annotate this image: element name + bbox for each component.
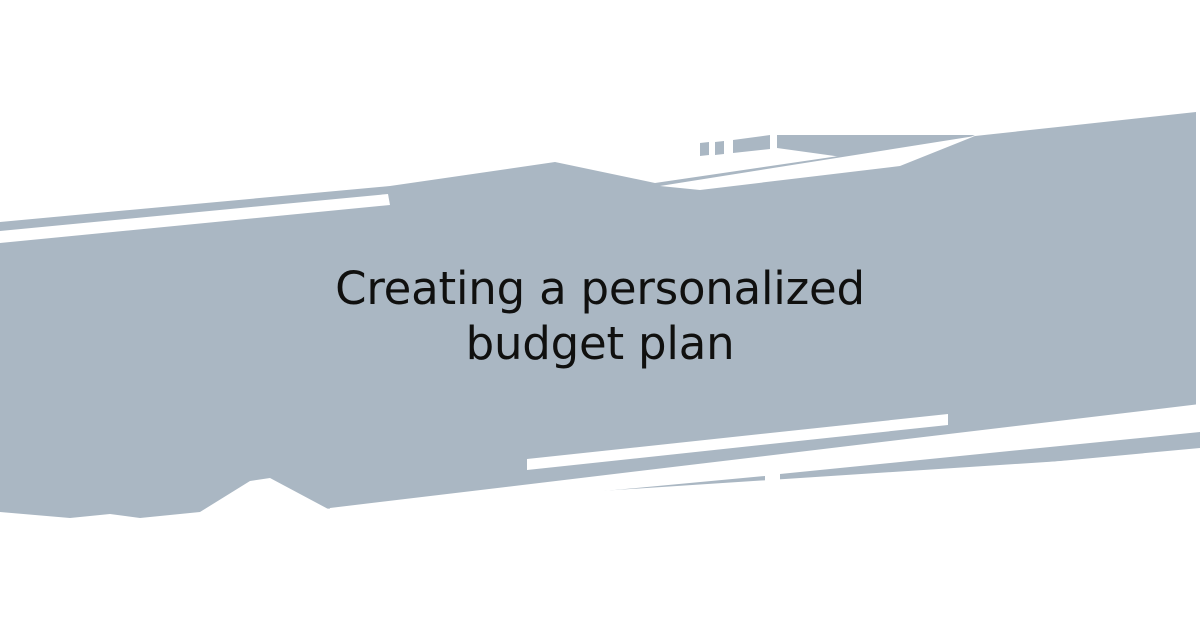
decorative-background-art bbox=[0, 0, 1200, 630]
dash-small-1 bbox=[700, 142, 709, 156]
banner-graphic: Creating a personalized budget plan bbox=[0, 0, 1200, 630]
dash-small-2 bbox=[715, 141, 724, 155]
